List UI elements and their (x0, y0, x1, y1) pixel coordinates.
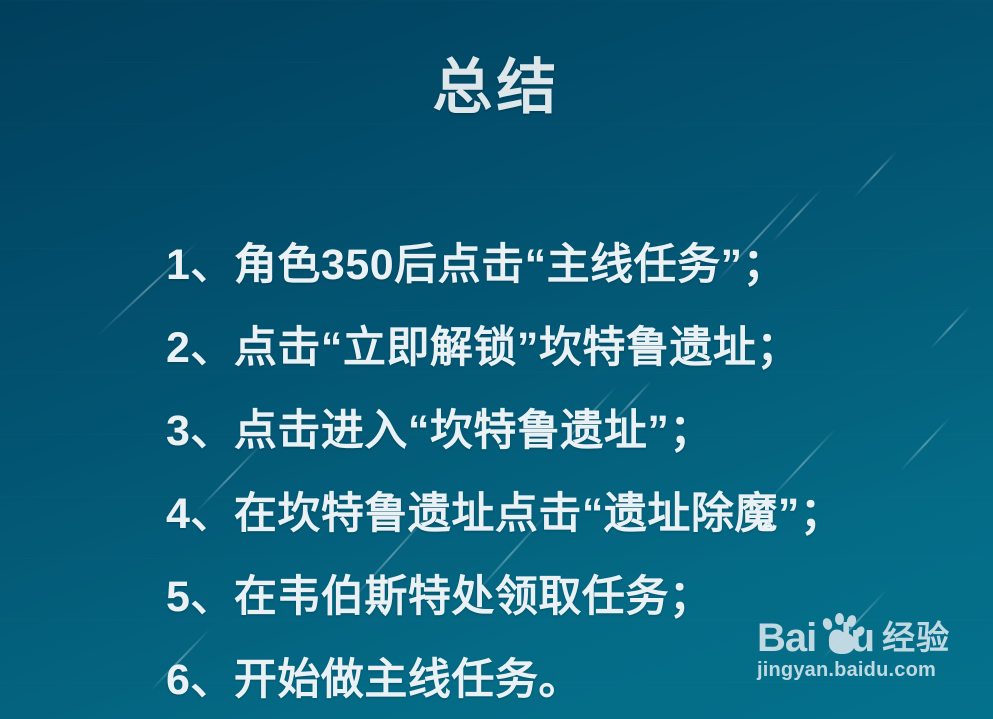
watermark-brand-cn: 经验 (882, 618, 950, 658)
list-item: 2、点击“立即解锁”坎特鲁遗址； (166, 307, 953, 390)
list-item: 3、点击进入“坎特鲁遗址”； (166, 390, 953, 473)
watermark-logo-row: Bai du 经验 (757, 612, 957, 658)
bear-paw-icon (817, 612, 865, 658)
page-title: 总结 (0, 58, 993, 118)
slide-canvas: 总结 1、角色350后点击“主线任务”； 2、点击“立即解锁”坎特鲁遗址； 3、… (0, 0, 993, 719)
list-item: 1、角色350后点击“主线任务”； (166, 224, 953, 307)
list-item: 4、在坎特鲁遗址点击“遗址除魔”； (166, 473, 953, 556)
watermark-url: jingyan.baidu.com (757, 659, 957, 682)
watermark-brand-left: Bai (757, 618, 816, 658)
baidu-jingyan-watermark: Bai du 经验 jingyan.baidu.com (757, 612, 957, 682)
decorative-slash (853, 151, 896, 197)
